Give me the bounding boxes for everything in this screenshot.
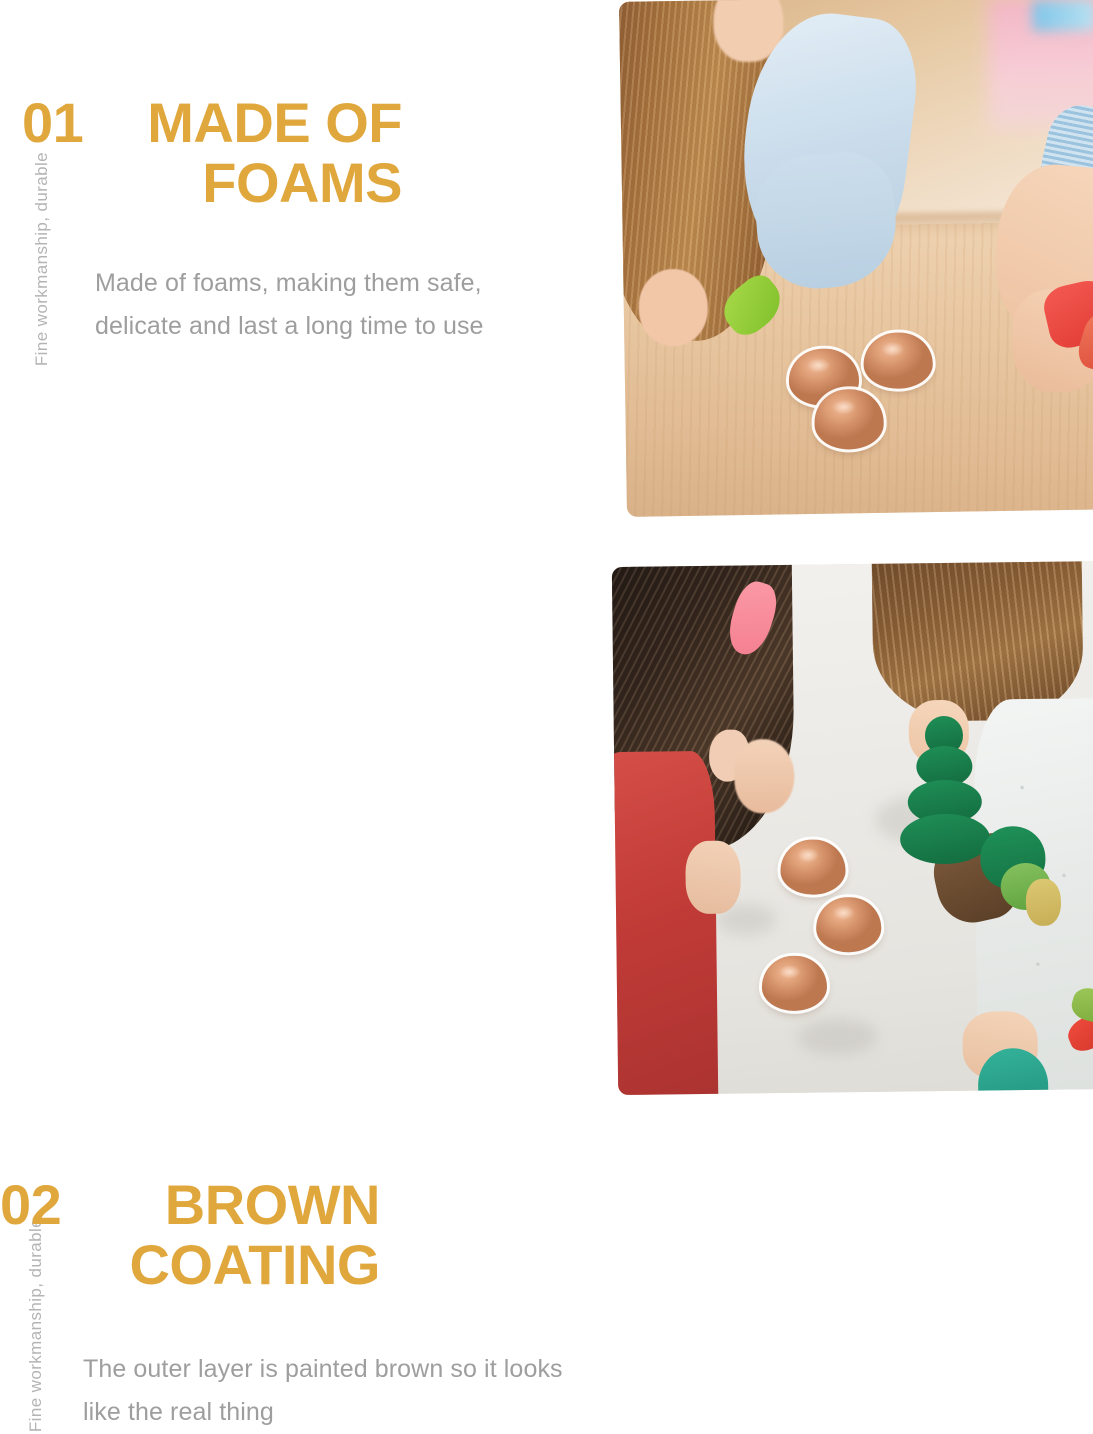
foam-egg	[863, 332, 933, 390]
photo-children-at-table-icon	[619, 0, 1093, 517]
feature-number-02: 02	[0, 1175, 61, 1235]
feature-block-01: Fine workmanship, durable 01 MADE OF FOA…	[0, 0, 575, 520]
feature-heading-02: 02 BROWN COATING	[0, 1175, 380, 1296]
feature-photo-01	[619, 0, 1093, 517]
foam-egg	[814, 389, 884, 449]
foam-egg	[762, 955, 828, 1011]
photo-children-on-floor-icon	[612, 561, 1093, 1095]
feature-block-02: Fine workmanship, durable 02 BROWN COATI…	[0, 530, 575, 1062]
foam-egg	[816, 896, 882, 952]
feature-number-01: 01	[22, 93, 83, 153]
feature-photo-02	[612, 561, 1093, 1095]
feature-description-01: Made of foams, making them safe, delicat…	[95, 262, 545, 348]
product-infographic-page: Fine workmanship, durable 01 MADE OF FOA…	[0, 0, 1093, 1062]
feature-description-02: The outer layer is painted brown so it l…	[83, 1348, 575, 1434]
feature-heading-01: 01 MADE OF FOAMS	[22, 93, 402, 214]
